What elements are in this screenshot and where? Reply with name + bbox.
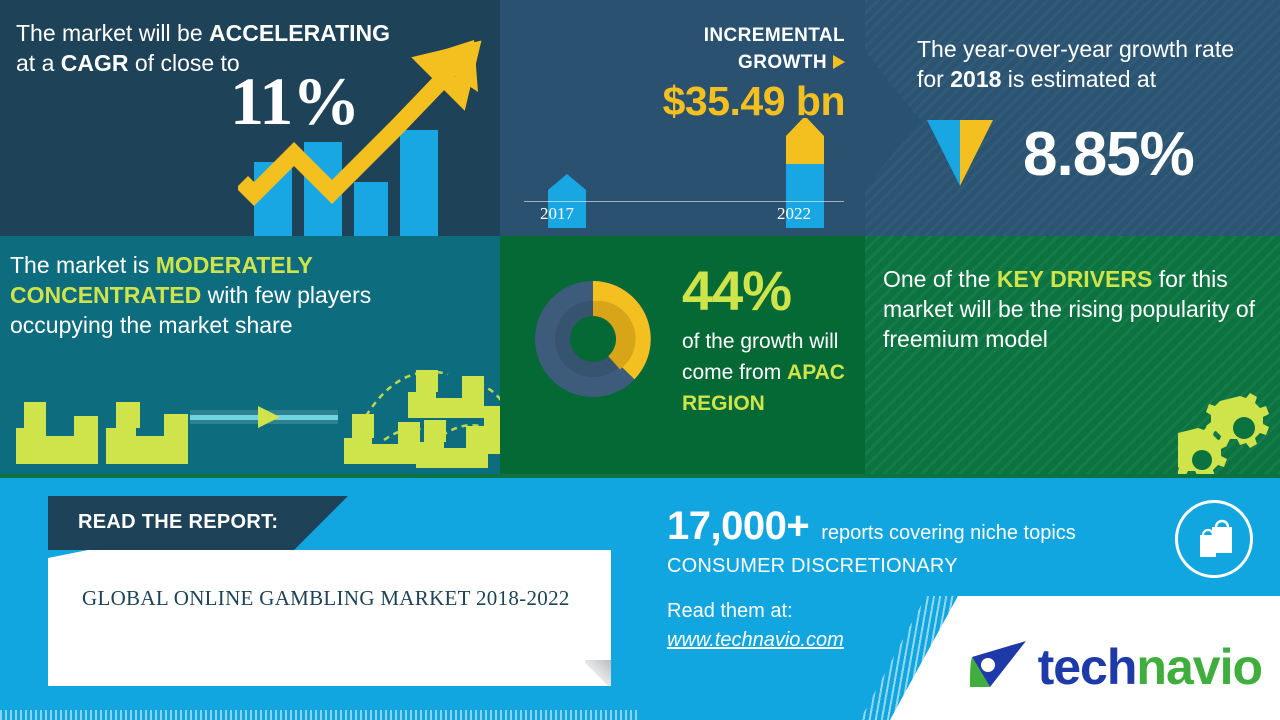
apac-text-c-hl: REGION bbox=[682, 392, 765, 415]
play-triangle-icon bbox=[833, 55, 845, 69]
cagr-text-b-bold: CAGR bbox=[61, 50, 129, 76]
panel-yoy-growth: The year-over-year growth rate for 2018 … bbox=[865, 0, 1280, 236]
reports-count-row: 17,000+ reports covering niche topics bbox=[667, 504, 1167, 549]
read-the-report-label: READ THE REPORT: bbox=[78, 511, 278, 534]
kd-text-b: market will be the rising popularity of bbox=[883, 296, 1255, 322]
yoy-text-b-bold: 2018 bbox=[950, 66, 1001, 92]
city-skyline-expansion-icon bbox=[0, 358, 510, 478]
donut-chart-icon bbox=[518, 264, 668, 414]
conc-text-c: occupying the market share bbox=[10, 312, 293, 338]
yoy-value: 8.85% bbox=[1023, 124, 1194, 186]
logo-tech: tech bbox=[1038, 639, 1137, 695]
reports-caption: reports covering niche topics bbox=[821, 522, 1076, 545]
yoy-statement: The year-over-year growth rate for 2018 … bbox=[917, 34, 1262, 94]
yoy-text-b: for bbox=[917, 66, 950, 92]
cagr-text-b-tail: of close to bbox=[129, 50, 240, 76]
kd-text-c: freemium model bbox=[883, 326, 1048, 352]
kd-text-a: One of the bbox=[883, 266, 997, 292]
top-row: The market will be ACCELERATING at a CAG… bbox=[0, 0, 1280, 236]
middle-row: The market is MODERATELY CONCENTRATED wi… bbox=[0, 236, 1280, 478]
shopping-bags-icon bbox=[1175, 500, 1253, 578]
axis-label-2022: 2022 bbox=[777, 204, 811, 224]
apac-text-a: of the growth will bbox=[682, 330, 838, 353]
panel-cagr: The market will be ACCELERATING at a CAG… bbox=[0, 0, 500, 236]
read-the-report-text: READ THE REPORT bbox=[78, 511, 271, 533]
logo-navio: navio bbox=[1136, 639, 1262, 695]
panel-concentration: The market is MODERATELY CONCENTRATED wi… bbox=[0, 236, 500, 478]
read-the-report-tab: READ THE REPORT: bbox=[48, 496, 348, 550]
kd-text-a-hl: KEY DRIVERS bbox=[997, 266, 1153, 292]
read-the-report-colon: : bbox=[271, 511, 278, 533]
report-title: GLOBAL ONLINE GAMBLING MARKET 2018-2022 bbox=[82, 586, 581, 611]
kd-text-a-tail: for this bbox=[1152, 266, 1227, 292]
conc-text-a: The market is bbox=[10, 252, 156, 278]
conc-text-b-hl: CONCENTRATED bbox=[10, 282, 201, 308]
chart-axis-line bbox=[524, 201, 844, 202]
technavio-logo[interactable]: technavio bbox=[968, 638, 1262, 696]
sector-label: CONSUMER DISCRETIONARY bbox=[667, 555, 1167, 578]
apac-text-b: come from bbox=[682, 361, 787, 384]
cagr-text-b: at a bbox=[16, 50, 61, 76]
incremental-growth-title: INCREMENTAL GROWTH bbox=[500, 22, 845, 76]
infographic-root: The market will be ACCELERATING at a CAG… bbox=[0, 0, 1280, 720]
panel-key-drivers: One of the KEY DRIVERS for this market w… bbox=[865, 236, 1280, 478]
report-title-card[interactable]: GLOBAL ONLINE GAMBLING MARKET 2018-2022 bbox=[48, 550, 611, 686]
panel-apac-share: 44% of the growth will come from APAC RE… bbox=[500, 236, 865, 478]
footer-row: READ THE REPORT: GLOBAL ONLINE GAMBLING … bbox=[0, 478, 1280, 720]
bicolor-triangle-icon bbox=[927, 120, 993, 186]
cagr-text-a: The market will be bbox=[16, 20, 209, 46]
panel-incremental-growth: INCREMENTAL GROWTH $35.49 bn 2017 2022 bbox=[500, 0, 865, 236]
technavio-arrow-mark-icon bbox=[968, 639, 1032, 695]
footer-hatch-texture bbox=[0, 710, 640, 720]
yoy-value-row: 8.85% bbox=[927, 120, 1194, 186]
incremental-growth-line1: INCREMENTAL bbox=[704, 25, 845, 46]
axis-label-2017: 2017 bbox=[540, 204, 574, 224]
cagr-value: 11% bbox=[230, 62, 359, 141]
apac-caption: of the growth will come from APAC REGION bbox=[682, 326, 860, 419]
apac-value: 44% bbox=[682, 262, 860, 320]
page-fold-icon bbox=[585, 660, 611, 686]
conc-text-b: with few players bbox=[201, 282, 371, 308]
key-drivers-statement: One of the KEY DRIVERS for this market w… bbox=[883, 264, 1268, 354]
technavio-url-link[interactable]: www.technavio.com bbox=[667, 629, 844, 652]
apac-statement: 44% of the growth will come from APAC RE… bbox=[682, 262, 860, 419]
apac-text-b-hl: APAC bbox=[787, 361, 845, 384]
technavio-wordmark: technavio bbox=[1038, 638, 1262, 696]
conc-text-a-hl: MODERATELY bbox=[156, 252, 313, 278]
incremental-growth-line2: GROWTH bbox=[738, 52, 827, 73]
gears-icon bbox=[1178, 390, 1274, 478]
reports-count: 17,000+ bbox=[667, 504, 809, 549]
yoy-text-b-tail: is estimated at bbox=[1001, 66, 1156, 92]
concentration-statement: The market is MODERATELY CONCENTRATED wi… bbox=[10, 250, 440, 340]
logo-wedge: technavio bbox=[890, 596, 1280, 720]
yoy-text-a: The year-over-year growth rate bbox=[917, 36, 1234, 62]
